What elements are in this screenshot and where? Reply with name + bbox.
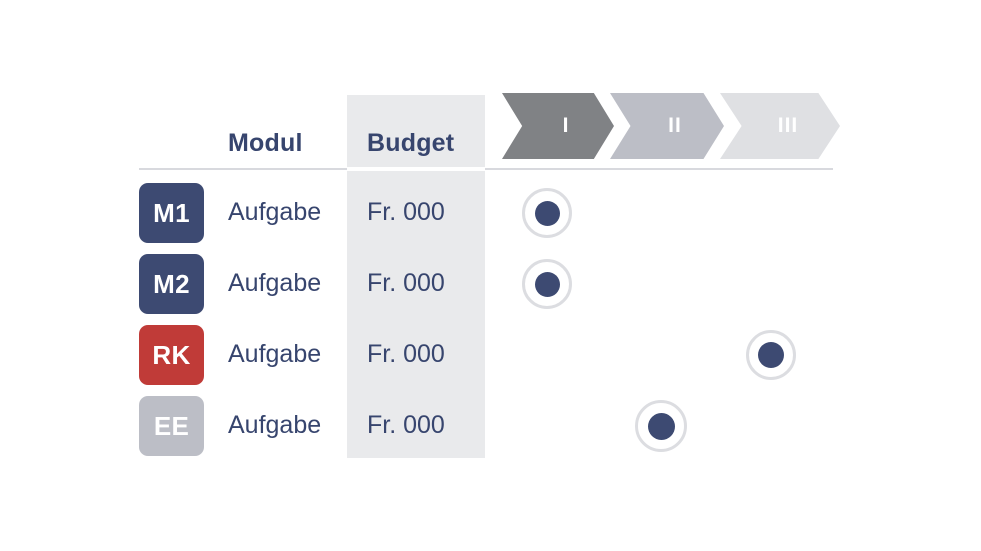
module-badge[interactable]: EE	[139, 396, 204, 456]
budget-value: Fr. 000	[367, 198, 445, 227]
timeline-marker-dot	[648, 413, 675, 440]
timeline-marker[interactable]	[746, 330, 796, 380]
phase-chevron-1[interactable]: I	[502, 93, 614, 159]
column-header-budget: Budget	[367, 129, 454, 158]
header-divider	[139, 168, 833, 170]
phase-chevron-1-label: I	[563, 114, 570, 138]
table-row[interactable]: M1 Aufgabe Fr. 000	[0, 178, 981, 249]
task-label: Aufgabe	[228, 198, 321, 227]
module-badge[interactable]: M1	[139, 183, 204, 243]
module-budget-timeline: Modul Budget I II III M1 Aufgabe Fr. 000…	[0, 0, 981, 551]
timeline-marker[interactable]	[522, 259, 572, 309]
task-label: Aufgabe	[228, 411, 321, 440]
timeline-marker-dot	[535, 272, 560, 297]
phase-chevron-2-label: II	[668, 114, 682, 138]
timeline-marker[interactable]	[635, 400, 687, 452]
header-divider-gap	[347, 167, 485, 171]
timeline-marker[interactable]	[522, 188, 572, 238]
module-badge[interactable]: M2	[139, 254, 204, 314]
task-label: Aufgabe	[228, 340, 321, 369]
table-row[interactable]: M2 Aufgabe Fr. 000	[0, 249, 981, 320]
phase-chevron-2[interactable]: II	[610, 93, 724, 159]
table-row[interactable]: EE Aufgabe Fr. 000	[0, 391, 981, 462]
timeline-marker-dot	[758, 342, 784, 368]
column-header-modul: Modul	[228, 129, 303, 158]
task-label: Aufgabe	[228, 269, 321, 298]
phase-chevron-3-label: III	[778, 114, 799, 138]
module-badge[interactable]: RK	[139, 325, 204, 385]
timeline-marker-dot	[535, 201, 560, 226]
budget-value: Fr. 000	[367, 411, 445, 440]
budget-value: Fr. 000	[367, 340, 445, 369]
budget-value: Fr. 000	[367, 269, 445, 298]
table-row[interactable]: RK Aufgabe Fr. 000	[0, 320, 981, 391]
phase-chevron-3[interactable]: III	[720, 93, 840, 159]
